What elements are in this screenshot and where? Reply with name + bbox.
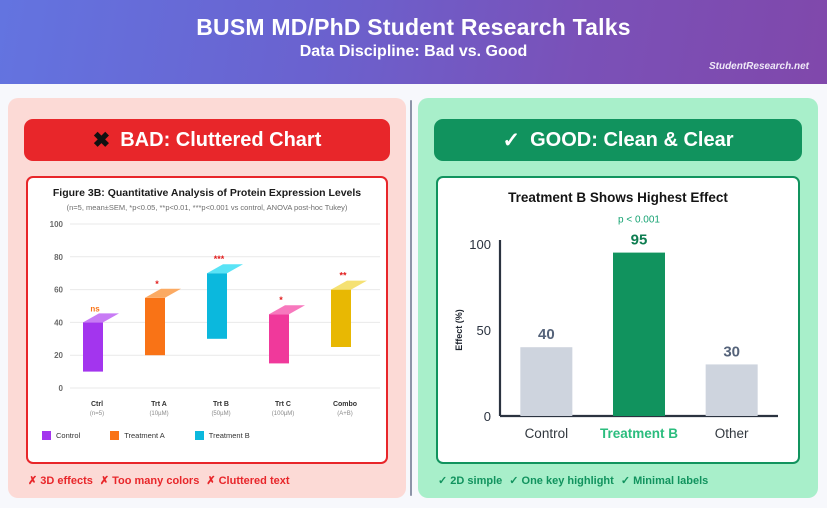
bad-significance-marker: *** (214, 254, 225, 264)
bad-chart-subtitle: (n=5, mean±SEM, *p<0.05, **p<0.01, ***p<… (28, 203, 386, 212)
bad-xtick-sublabel: (50µM) (211, 411, 230, 417)
bad-xtick-sublabel: (A+B) (337, 411, 353, 417)
good-chart-xtick-labels: ControlTreatment BOther (525, 426, 749, 441)
bad-significance-marker: ** (339, 271, 347, 281)
good-value-label: 30 (723, 343, 740, 360)
bad-bar-front (207, 273, 227, 339)
bad-ytick-label: 20 (54, 351, 63, 360)
bad-xtick-label: Trt A (151, 401, 167, 408)
check-icon: ✓ (503, 130, 521, 151)
bad-bar-top (269, 305, 305, 314)
bad-chart-legend: ControlTreatment ATreatment B (42, 431, 280, 440)
good-bar-highlighted (613, 253, 665, 416)
good-ytick-label: 100 (469, 237, 491, 252)
page-subtitle: Data Discipline: Bad vs. Good (0, 43, 827, 61)
good-pvalue-text: p < 0.001 (618, 215, 660, 226)
bad-panel-footnotes: ✗ 3D effects✗ Too many colors✗ Cluttered… (28, 474, 297, 487)
bad-ytick-label: 100 (50, 220, 64, 229)
good-footnote-item: ✓ 2D simple (438, 475, 502, 487)
bad-footnote-item: ✗ Too many colors (100, 475, 199, 487)
good-chart-ytick-labels: 050100 (469, 237, 491, 424)
bad-xtick-label: Trt B (213, 401, 229, 408)
bad-chart-title: Figure 3B: Quantitative Analysis of Prot… (28, 187, 386, 199)
good-value-label: 95 (631, 232, 648, 249)
bad-significance-marker: ns (90, 304, 100, 313)
bad-chart-card: Figure 3B: Quantitative Analysis of Prot… (26, 176, 388, 464)
bad-legend-item: Treatment A (110, 431, 165, 440)
bad-ytick-label: 0 (59, 384, 64, 393)
good-footnote-item: ✓ One key highlight (509, 475, 614, 487)
good-panel-banner-label: GOOD: Clean & Clear (530, 129, 733, 152)
good-ytick-label: 0 (484, 409, 491, 424)
good-chart-pvalue-annotation: p < 0.001 (618, 215, 660, 226)
bad-bar-front (269, 314, 289, 363)
bad-legend-swatch (110, 431, 119, 440)
bad-xtick-label: Combo (333, 401, 357, 408)
bad-chart-plot: 020406080100 ns******* Ctrl(n=5)Trt A(10… (28, 216, 390, 428)
bad-xtick-sublabel: (100µM) (272, 411, 294, 417)
bad-xtick-label: Ctrl (91, 401, 103, 408)
good-chart-title: Treatment B Shows Highest Effect (438, 190, 798, 205)
good-chart-plot: 050100 409530 ControlTreatment BOther p … (438, 208, 802, 458)
bad-legend-label: Treatment B (209, 431, 250, 440)
good-chart-bars (520, 253, 757, 416)
bad-ytick-label: 80 (54, 253, 63, 262)
bad-legend-item: Treatment B (195, 431, 250, 440)
good-panel-footnotes: ✓ 2D simple✓ One key highlight✓ Minimal … (438, 474, 715, 487)
bad-significance-marker: * (155, 279, 159, 289)
bad-legend-label: Control (56, 431, 80, 440)
bad-xtick-label: Trt C (275, 401, 291, 408)
bad-bar-top (207, 264, 243, 273)
bad-significance-marker: * (279, 295, 283, 305)
bad-bar-front (331, 290, 351, 347)
bad-bar-front (83, 322, 103, 371)
bad-chart-svg: 020406080100 ns******* Ctrl(n=5)Trt A(10… (28, 216, 390, 428)
page-title: BUSM MD/PhD Student Research Talks (0, 14, 827, 41)
good-panel: ✓ GOOD: Clean & Clear Treatment B Shows … (418, 98, 818, 498)
good-xtick-label: Treatment B (600, 426, 678, 441)
good-chart-ylabel: Effect (%) (454, 309, 464, 351)
bad-footnote-item: ✗ 3D effects (28, 475, 93, 487)
bad-legend-item: Control (42, 431, 80, 440)
good-chart-card: Treatment B Shows Highest Effect 050100 … (436, 176, 800, 464)
bad-legend-swatch (195, 431, 204, 440)
good-ylabel-text: Effect (%) (454, 309, 464, 351)
good-bar (520, 347, 572, 416)
watermark: StudentResearch.net (709, 61, 809, 72)
bad-bar-front (145, 298, 165, 355)
bad-xtick-sublabel: (10µM) (149, 411, 168, 417)
bad-bar-top (145, 289, 181, 298)
good-chart-svg: 050100 409530 ControlTreatment BOther p … (438, 208, 802, 458)
good-ytick-label: 50 (477, 323, 491, 338)
bad-ytick-label: 40 (54, 318, 63, 327)
bad-panel: ✖ BAD: Cluttered Chart Figure 3B: Quanti… (8, 98, 406, 498)
good-panel-banner: ✓ GOOD: Clean & Clear (434, 119, 802, 161)
cross-icon: ✖ (93, 130, 111, 151)
bad-footnote-item: ✗ Cluttered text (206, 475, 289, 487)
bad-legend-label: Treatment A (124, 431, 165, 440)
bad-chart-xtick-labels: Ctrl(n=5)Trt A(10µM)Trt B(50µM)Trt C(100… (90, 401, 357, 417)
bad-panel-banner: ✖ BAD: Cluttered Chart (24, 119, 390, 161)
good-value-label: 40 (538, 326, 555, 343)
bad-xtick-sublabel: (n=5) (90, 411, 104, 417)
bad-bar-top (83, 313, 119, 322)
good-xtick-label: Control (525, 426, 569, 441)
page-header: BUSM MD/PhD Student Research Talks Data … (0, 0, 827, 84)
good-footnote-item: ✓ Minimal labels (621, 475, 708, 487)
bad-legend-swatch (42, 431, 51, 440)
bad-bar-top (331, 281, 367, 290)
bad-panel-banner-label: BAD: Cluttered Chart (120, 129, 321, 152)
bad-chart-ytick-labels: 020406080100 (50, 220, 64, 393)
good-xtick-label: Other (715, 426, 749, 441)
bad-ytick-label: 60 (54, 286, 63, 295)
good-bar (706, 364, 758, 416)
panel-divider (410, 100, 412, 496)
